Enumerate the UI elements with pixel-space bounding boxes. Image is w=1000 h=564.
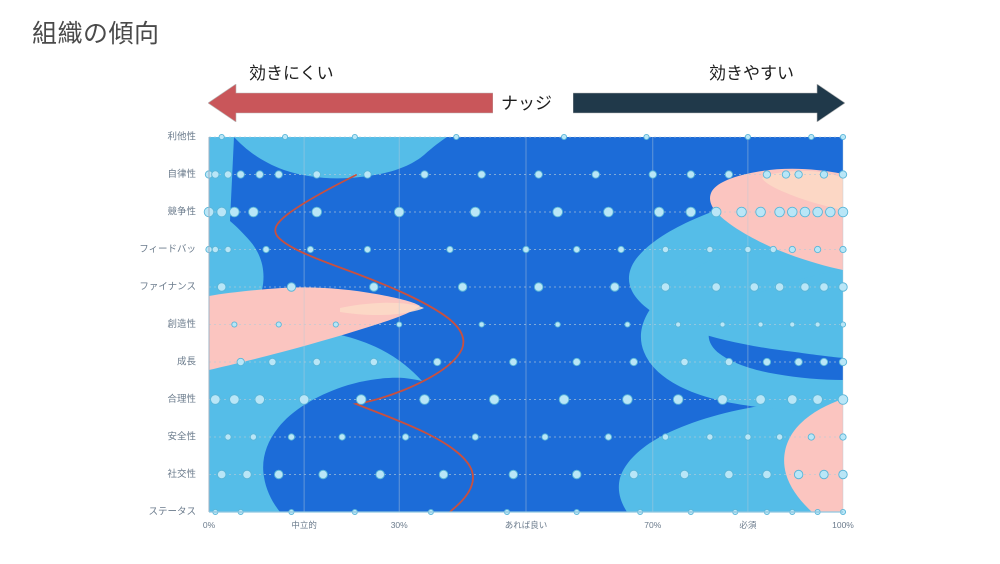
data-point	[447, 246, 453, 252]
data-point	[794, 470, 803, 479]
data-point	[815, 322, 820, 327]
data-point	[523, 246, 529, 252]
data-point	[712, 283, 721, 292]
data-point	[243, 470, 252, 479]
data-point	[276, 322, 281, 327]
data-point	[745, 134, 750, 139]
data-point	[211, 395, 221, 405]
data-point	[801, 283, 810, 292]
data-point	[225, 246, 231, 252]
y-axis-tick-label: 利他性	[167, 131, 196, 143]
right-arrow-label: 効きやすい	[709, 59, 794, 84]
data-point	[313, 358, 320, 365]
data-point	[763, 470, 772, 479]
stream-area-chart: 利他性自律性競争性フィードバッファイナンス創造性成長合理性安全性社交性ステータス…	[0, 118, 1000, 564]
data-point	[509, 470, 518, 479]
data-point	[820, 358, 827, 365]
data-point	[840, 322, 845, 327]
data-point	[535, 171, 542, 178]
data-point	[230, 395, 240, 405]
data-point	[376, 470, 385, 479]
data-point	[458, 283, 467, 292]
data-point	[555, 322, 560, 327]
data-point	[561, 134, 566, 139]
data-point	[808, 434, 814, 440]
x-axis-tick-label: 必須	[739, 520, 757, 530]
y-axis-tick-label: 創造性	[167, 318, 196, 330]
data-point	[225, 434, 231, 440]
hard-to-work-arrow	[208, 84, 493, 122]
data-point	[439, 470, 448, 479]
data-point	[813, 207, 823, 217]
data-point	[421, 171, 428, 178]
data-point	[756, 207, 766, 217]
left-arrow-label: 効きにくい	[249, 59, 334, 84]
data-point	[840, 434, 846, 440]
data-point	[789, 246, 795, 252]
data-point	[230, 207, 240, 217]
data-point	[838, 395, 848, 405]
data-point	[711, 207, 721, 217]
chart-x-axis: 0%中立的30%あれば良い70%必須100%	[203, 520, 854, 530]
data-point	[287, 283, 296, 292]
data-point	[364, 246, 370, 252]
x-axis-tick-label: 100%	[832, 520, 854, 530]
data-point	[479, 322, 484, 327]
data-point	[681, 358, 688, 365]
data-point	[217, 283, 226, 292]
data-point	[605, 434, 611, 440]
data-point	[224, 171, 231, 178]
data-point	[623, 395, 633, 405]
data-point	[274, 470, 283, 479]
data-point	[707, 246, 713, 252]
data-point	[770, 246, 776, 252]
data-point	[490, 395, 500, 405]
data-point	[618, 246, 624, 252]
data-point	[333, 322, 338, 327]
y-axis-tick-label: 自律性	[167, 168, 196, 180]
data-point	[720, 322, 725, 327]
data-point	[339, 434, 345, 440]
x-axis-tick-label: 中立的	[291, 520, 317, 530]
data-point	[625, 322, 630, 327]
data-point	[559, 395, 569, 405]
data-point	[212, 246, 218, 252]
chart-gridlines-vertical	[209, 137, 843, 512]
data-point	[255, 395, 265, 405]
data-point	[542, 434, 548, 440]
data-point	[790, 322, 795, 327]
data-point	[795, 358, 802, 365]
data-point	[420, 395, 430, 405]
data-point	[534, 283, 543, 292]
easy-to-work-arrow	[573, 84, 845, 122]
y-axis-tick-label: ステータス	[148, 507, 196, 518]
data-point	[237, 171, 244, 178]
y-axis-tick-label: 安全性	[167, 431, 196, 443]
data-point	[795, 171, 802, 178]
data-point	[313, 171, 320, 178]
data-point	[397, 322, 402, 327]
x-axis-tick-label: 70%	[644, 520, 661, 530]
data-point	[718, 395, 728, 405]
y-axis-tick-label: 社交性	[167, 468, 196, 480]
data-point	[839, 283, 848, 292]
data-point	[782, 171, 789, 178]
data-point	[604, 207, 614, 217]
data-point	[299, 395, 309, 405]
data-point	[649, 171, 656, 178]
data-point	[758, 322, 763, 327]
data-point	[237, 358, 244, 365]
data-point	[725, 358, 732, 365]
data-point	[454, 134, 459, 139]
data-point	[574, 246, 580, 252]
data-point	[839, 171, 846, 178]
chart-y-axis: 利他性自律性競争性フィードバッファイナンス創造性成長合理性安全性社交性ステータス	[139, 131, 196, 518]
data-point	[282, 134, 287, 139]
data-point	[572, 470, 581, 479]
data-point	[249, 207, 259, 217]
data-point	[756, 395, 766, 405]
data-point	[654, 207, 664, 217]
y-axis-tick-label: フィードバッ	[139, 244, 196, 255]
slide-root: 組織の傾向 効きにくい ナッジ 効きやすい	[0, 0, 1000, 564]
y-axis-tick-label: 競争性	[167, 206, 196, 218]
data-point	[402, 434, 408, 440]
nudge-label: ナッジ	[501, 89, 552, 114]
data-point	[269, 358, 276, 365]
data-point	[250, 434, 256, 440]
data-point	[573, 358, 580, 365]
data-point	[820, 171, 827, 178]
data-point	[826, 207, 836, 217]
data-point	[787, 395, 797, 405]
data-point	[745, 434, 751, 440]
data-point	[763, 358, 770, 365]
data-point	[275, 171, 282, 178]
data-point	[470, 207, 480, 217]
data-point	[611, 283, 620, 292]
data-point	[840, 246, 846, 252]
data-point	[839, 470, 848, 479]
data-point	[686, 207, 696, 217]
data-point	[676, 322, 681, 327]
x-axis-tick-label: 0%	[203, 520, 216, 530]
data-point	[707, 434, 713, 440]
data-point	[662, 434, 668, 440]
data-point	[217, 470, 226, 479]
data-point	[763, 171, 770, 178]
data-point	[800, 207, 810, 217]
data-point	[263, 246, 269, 252]
data-point	[776, 434, 782, 440]
data-point	[219, 134, 224, 139]
data-point	[814, 246, 820, 252]
y-axis-tick-label: ファイナンス	[139, 282, 196, 293]
data-point	[775, 283, 784, 292]
data-point	[630, 470, 639, 479]
data-point	[352, 134, 357, 139]
data-point	[673, 395, 683, 405]
data-point	[212, 171, 219, 178]
data-point	[725, 171, 732, 178]
data-point	[787, 207, 797, 217]
data-point	[472, 434, 478, 440]
data-point	[510, 358, 517, 365]
data-point	[288, 434, 294, 440]
data-point	[809, 134, 814, 139]
data-point	[725, 470, 734, 479]
data-point	[820, 470, 829, 479]
data-point	[750, 283, 759, 292]
y-axis-tick-label: 合理性	[167, 393, 196, 405]
x-axis-tick-label: 30%	[391, 520, 408, 530]
chart-canvas: 利他性自律性競争性フィードバッファイナンス創造性成長合理性安全性社交性ステータス…	[0, 118, 1000, 564]
data-point	[434, 358, 441, 365]
data-point	[256, 171, 263, 178]
data-point	[644, 134, 649, 139]
data-point	[307, 246, 313, 252]
data-point	[775, 207, 785, 217]
data-point	[820, 283, 829, 292]
data-point	[232, 322, 237, 327]
x-axis-tick-label: あれば良い	[505, 520, 548, 530]
data-point	[592, 171, 599, 178]
data-point	[553, 207, 563, 217]
data-point	[630, 358, 637, 365]
data-point	[319, 470, 328, 479]
data-point	[737, 207, 747, 217]
data-point	[370, 358, 377, 365]
data-point	[813, 395, 823, 405]
data-point	[662, 246, 668, 252]
data-point	[394, 207, 404, 217]
data-point	[687, 171, 694, 178]
data-point	[680, 470, 689, 479]
data-point	[370, 283, 379, 292]
data-point	[838, 207, 848, 217]
y-axis-tick-label: 成長	[177, 356, 197, 368]
data-point	[364, 171, 371, 178]
data-point	[745, 246, 751, 252]
data-point	[312, 207, 322, 217]
data-point	[839, 358, 846, 365]
data-point	[840, 134, 845, 139]
data-point	[217, 207, 227, 217]
data-point	[478, 171, 485, 178]
page-title: 組織の傾向	[32, 14, 160, 50]
data-point	[661, 283, 670, 292]
data-point	[356, 395, 366, 405]
